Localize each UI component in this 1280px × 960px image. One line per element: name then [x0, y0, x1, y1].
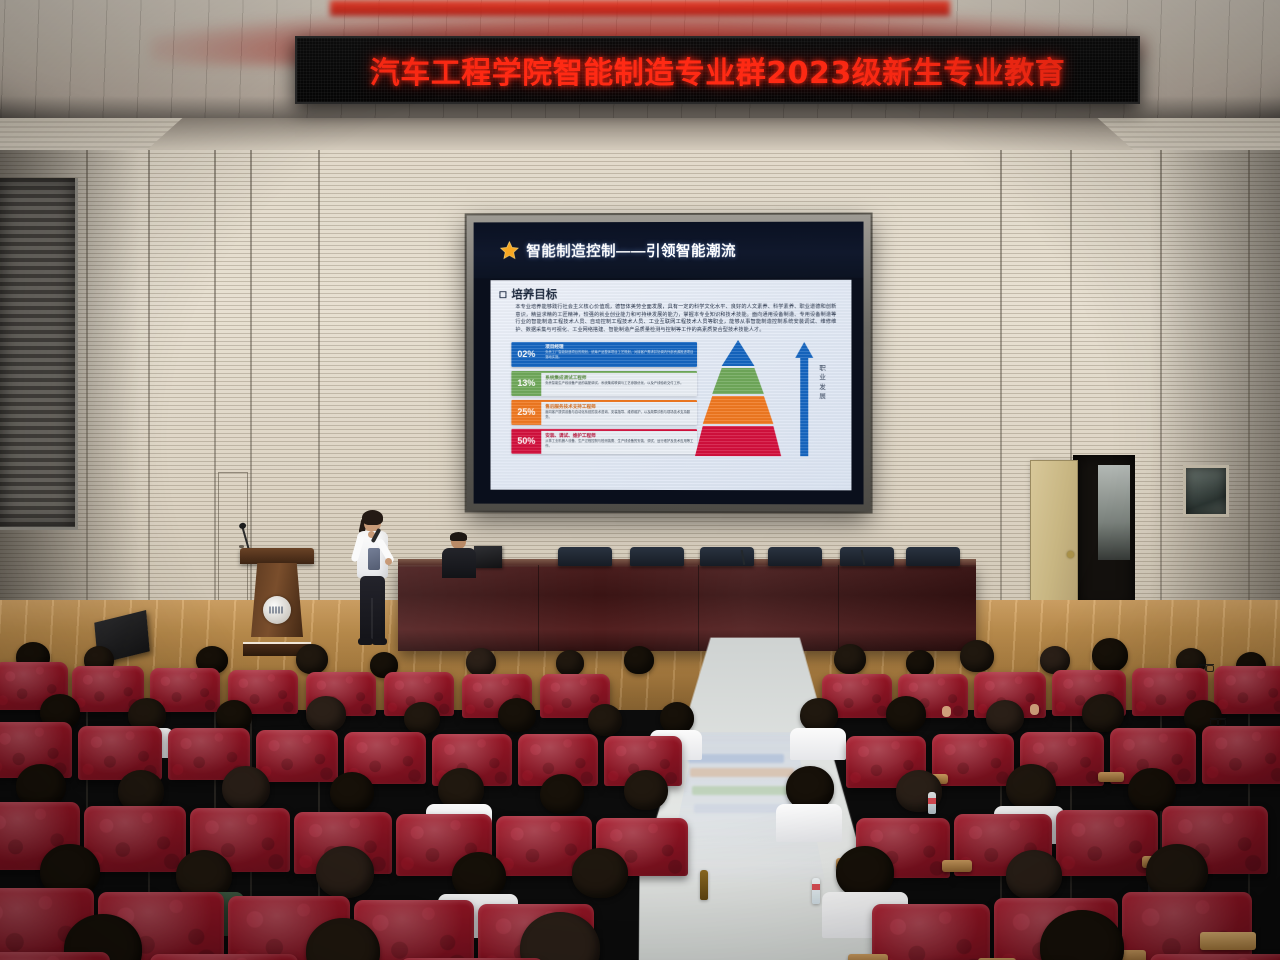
chart-row-desc: 面向客户提供设备与自动化系统的技术咨询、安装指导、维修维护，以及故障诊断与现场技…: [545, 410, 694, 418]
led-banner-text: 汽车工程学院智能制造专业群2023级新生专业教育: [370, 48, 1066, 92]
chart-row-percent: 50%: [511, 429, 541, 454]
water-bottle: [812, 878, 820, 904]
presenter-legs: [360, 576, 385, 640]
audience-head: [1006, 850, 1062, 900]
presenter-hand-right: [385, 558, 392, 565]
audience-head: [986, 700, 1024, 734]
chart-row-list: 02% 项目经理 负责工厂智能制造项目的规划、统筹产品整体项目工艺规划，对接客户…: [511, 342, 697, 458]
ventilation-grille: [0, 178, 78, 530]
chart-row-text: 系统集成调试工程师 负责智能生产线设备产品的装配调试、系统集成联调与工艺参数优化…: [541, 371, 697, 396]
chart-row-title: 安装、调试、维护工程师: [545, 433, 694, 438]
audience-head: [466, 648, 496, 676]
audience-head: [960, 640, 994, 672]
table-chair: [768, 547, 822, 566]
chart-row-desc: 负责工厂智能制造项目的规划、统筹产品整体项目工艺规划，对接客户需求并协调内外部资…: [545, 350, 694, 358]
audience-head: [886, 696, 926, 732]
audience-head: [624, 646, 654, 674]
career-pyramid-chart: 02% 项目经理 负责工厂智能制造项目的规划、统筹产品整体项目工艺规划，对接客户…: [499, 340, 842, 460]
arrow-shaft: [800, 356, 808, 456]
chart-row-text: 项目经理 负责工厂智能制造项目的规划、统筹产品整体项目工艺规划，对接客户需求并协…: [541, 342, 697, 367]
slide-body: 培养目标 本专业培养能够践行社会主义核心价值观，德智体美劳全面发展，具有一定的科…: [491, 280, 852, 491]
chart-row: 50% 安装、调试、维护工程师 从事工业机器人设备、生产过程控制与检测装置、生产…: [511, 429, 697, 454]
slide-paragraph: 本专业培养能够践行社会主义核心价值观，德智体美劳全面发展，具有一定的科学文化水平…: [499, 304, 842, 335]
slide-title: 智能制造控制——引领智能潮流: [526, 239, 736, 260]
presenter: [352, 512, 394, 648]
arrow-label: 职业发展: [819, 364, 829, 402]
table-chair: [700, 547, 754, 566]
audience-head: [1092, 638, 1128, 672]
auditorium-seat[interactable]: [1214, 666, 1280, 714]
chart-row-title: 售后服务技术支持工程师: [545, 404, 694, 409]
projection-screen-frame: 智能制造控制——引领智能潮流 培养目标 本专业培养能够践行社会主义核心价值观，德…: [467, 215, 871, 512]
audience-head: [540, 774, 584, 814]
audience-head: [1082, 694, 1124, 732]
floor-reflection-band: [688, 754, 784, 763]
laptop: [474, 546, 502, 568]
pyramid-tier-2: [695, 368, 781, 394]
lectern-top: [240, 548, 314, 564]
audience-head: [906, 650, 934, 676]
auditorium-seat[interactable]: [1150, 954, 1280, 960]
led-banner: 汽车工程学院智能制造专业群2023级新生专业教育: [295, 36, 1140, 104]
chart-row-desc: 负责智能生产线设备产品的装配调试、系统集成联调与工艺参数优化，以及产线验收交付工…: [545, 381, 694, 385]
career-growth-arrow: [795, 342, 813, 458]
water-bottle: [928, 792, 936, 814]
audience-head: [588, 704, 622, 736]
audience-head: [296, 644, 328, 674]
open-door[interactable]: [1030, 460, 1078, 612]
audience-head: [572, 848, 628, 898]
audience-shirt: [776, 804, 842, 842]
audience-head: [624, 770, 668, 810]
chart-row-desc: 从事工业机器人设备、生产过程控制与检测装置、生产线设备的安装、调试、运行维护及技…: [545, 439, 694, 447]
audience-head: [1006, 764, 1056, 810]
auditorium-photo: 汽车工程学院智能制造专业群2023级新生专业教育 智能制造控制——引领智能潮流: [0, 0, 1280, 960]
star-icon: [499, 240, 519, 260]
slide-header: 智能制造控制——引领智能潮流: [474, 222, 864, 279]
auditorium-seat[interactable]: [0, 952, 110, 960]
audience-head: [556, 650, 584, 676]
chart-row-percent: 02%: [511, 342, 541, 367]
table-chair: [840, 547, 894, 566]
beverage-bottle: [700, 870, 708, 900]
seated-staff-member: [442, 533, 476, 575]
floor-reflection-band: [690, 768, 794, 777]
chart-row: 25% 售后服务技术支持工程师 面向客户提供设备与自动化系统的技术咨询、安装指导…: [511, 400, 697, 425]
corridor-behind-door: [1098, 465, 1130, 560]
slide-section-heading: 培养目标: [511, 286, 557, 302]
seat-armrest: [1200, 932, 1256, 950]
raised-hand: [1030, 704, 1039, 715]
pyramid-tier-4: [695, 426, 781, 456]
chart-row: 13% 系统集成调试工程师 负责智能生产线设备产品的装配调试、系统集成联调与工艺…: [511, 371, 697, 396]
square-bullet-icon: [499, 291, 506, 298]
audience-shirt: [790, 728, 846, 760]
audience-head: [498, 698, 536, 732]
projection-screen: 智能制造控制——引领智能潮流 培养目标 本专业培养能够践行社会主义核心价值观，德…: [474, 222, 864, 505]
pyramid-tier-3: [695, 396, 781, 424]
chart-row: 02% 项目经理 负责工厂智能制造项目的规划、统筹产品整体项目工艺规划，对接客户…: [511, 342, 697, 367]
auditorium-seat[interactable]: [256, 730, 338, 782]
audience-head: [452, 852, 506, 900]
audience-head: [800, 698, 838, 732]
table-chair: [630, 547, 684, 566]
table-chair: [906, 547, 960, 566]
chart-row-text: 安装、调试、维护工程师 从事工业机器人设备、生产过程控制与检测装置、生产线设备的…: [541, 429, 697, 454]
audience-head: [306, 696, 346, 732]
audience-head: [316, 846, 374, 898]
audience-head: [330, 772, 374, 812]
audience-head: [404, 702, 440, 734]
chart-row-text: 售后服务技术支持工程师 面向客户提供设备与自动化系统的技术咨询、安装指导、维修维…: [541, 400, 697, 425]
chart-row-percent: 13%: [511, 371, 541, 396]
auditorium-seat[interactable]: [1202, 726, 1280, 784]
seated-man-body: [442, 548, 476, 578]
control-room-window: [1183, 465, 1229, 517]
seat-armrest: [942, 860, 972, 872]
wall-shadow-right: [1150, 150, 1280, 670]
slide-section-heading-row: 培养目标: [499, 286, 842, 302]
audience-seating: [0, 636, 1280, 960]
audience-head: [836, 846, 894, 898]
door-handle-icon: [1067, 551, 1074, 558]
presenter-shirt-print: [368, 548, 380, 570]
audience-head: [834, 644, 866, 674]
eyeglasses: [1210, 718, 1226, 723]
chart-row-title: 系统集成调试工程师: [545, 375, 694, 380]
table-chair: [558, 547, 612, 566]
audience-head: [222, 766, 270, 810]
chart-row-percent: 25%: [511, 400, 541, 425]
auditorium-seat[interactable]: [150, 954, 298, 960]
pyramid-graphic: [695, 340, 781, 458]
auditorium-seat[interactable]: [872, 904, 990, 960]
school-emblem: [263, 596, 291, 624]
raised-hand: [942, 706, 951, 717]
seated-man-hair: [450, 532, 467, 541]
presenter-hair: [362, 510, 383, 525]
seat-armrest: [1098, 772, 1124, 782]
auditorium-seat[interactable]: [84, 806, 186, 872]
pyramid-tier-1: [695, 340, 781, 366]
seat-armrest: [848, 954, 888, 960]
chart-row-title: 项目经理: [545, 344, 694, 349]
